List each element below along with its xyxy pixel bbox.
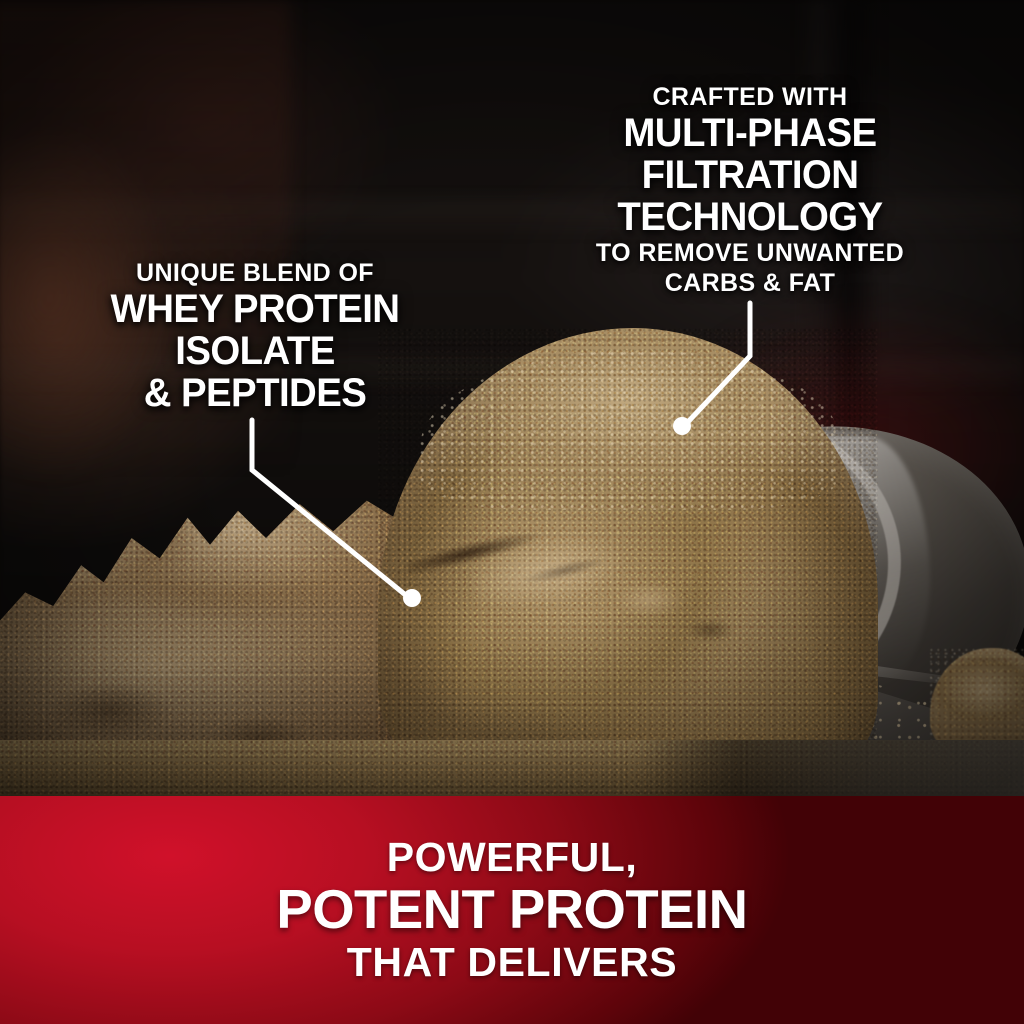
callout-right-headline-2: FILTRATION — [577, 154, 923, 196]
leader-line-right — [686, 303, 750, 424]
tagline-line-2: POTENT PROTEIN — [276, 880, 747, 938]
promo-graphic: UNIQUE BLEND OF WHEY PROTEIN ISOLATE & P… — [0, 0, 1024, 1024]
tagline-line-1: POWERFUL, — [387, 834, 637, 880]
callout-right-lead: CRAFTED WITH — [570, 82, 930, 112]
leader-dot-right — [673, 417, 691, 435]
tagline-banner: POWERFUL, POTENT PROTEIN THAT DELIVERS — [0, 796, 1024, 1024]
callout-right-sub-1: TO REMOVE UNWANTED — [570, 238, 930, 268]
callout-left-headline-2: ISOLATE — [44, 330, 466, 372]
callout-right-sub-2: CARBS & FAT — [570, 268, 930, 298]
product-photo: UNIQUE BLEND OF WHEY PROTEIN ISOLATE & P… — [0, 0, 1024, 796]
callout-left-lead: UNIQUE BLEND OF — [35, 258, 475, 288]
leader-dot-left — [403, 589, 421, 607]
callout-left-headline-1: WHEY PROTEIN — [44, 288, 466, 330]
callout-right-headline-1: MULTI-PHASE — [577, 112, 923, 154]
callout-whey-protein: UNIQUE BLEND OF WHEY PROTEIN ISOLATE & P… — [35, 258, 475, 414]
callout-left-headline-3: & PEPTIDES — [44, 372, 466, 414]
callout-right-headline-3: TECHNOLOGY — [577, 196, 923, 238]
callout-filtration-technology: CRAFTED WITH MULTI-PHASE FILTRATION TECH… — [570, 82, 930, 298]
leader-line-left — [252, 420, 408, 597]
tagline-line-3: THAT DELIVERS — [347, 938, 678, 986]
tagline-banner-content: POWERFUL, POTENT PROTEIN THAT DELIVERS — [0, 796, 1024, 1024]
